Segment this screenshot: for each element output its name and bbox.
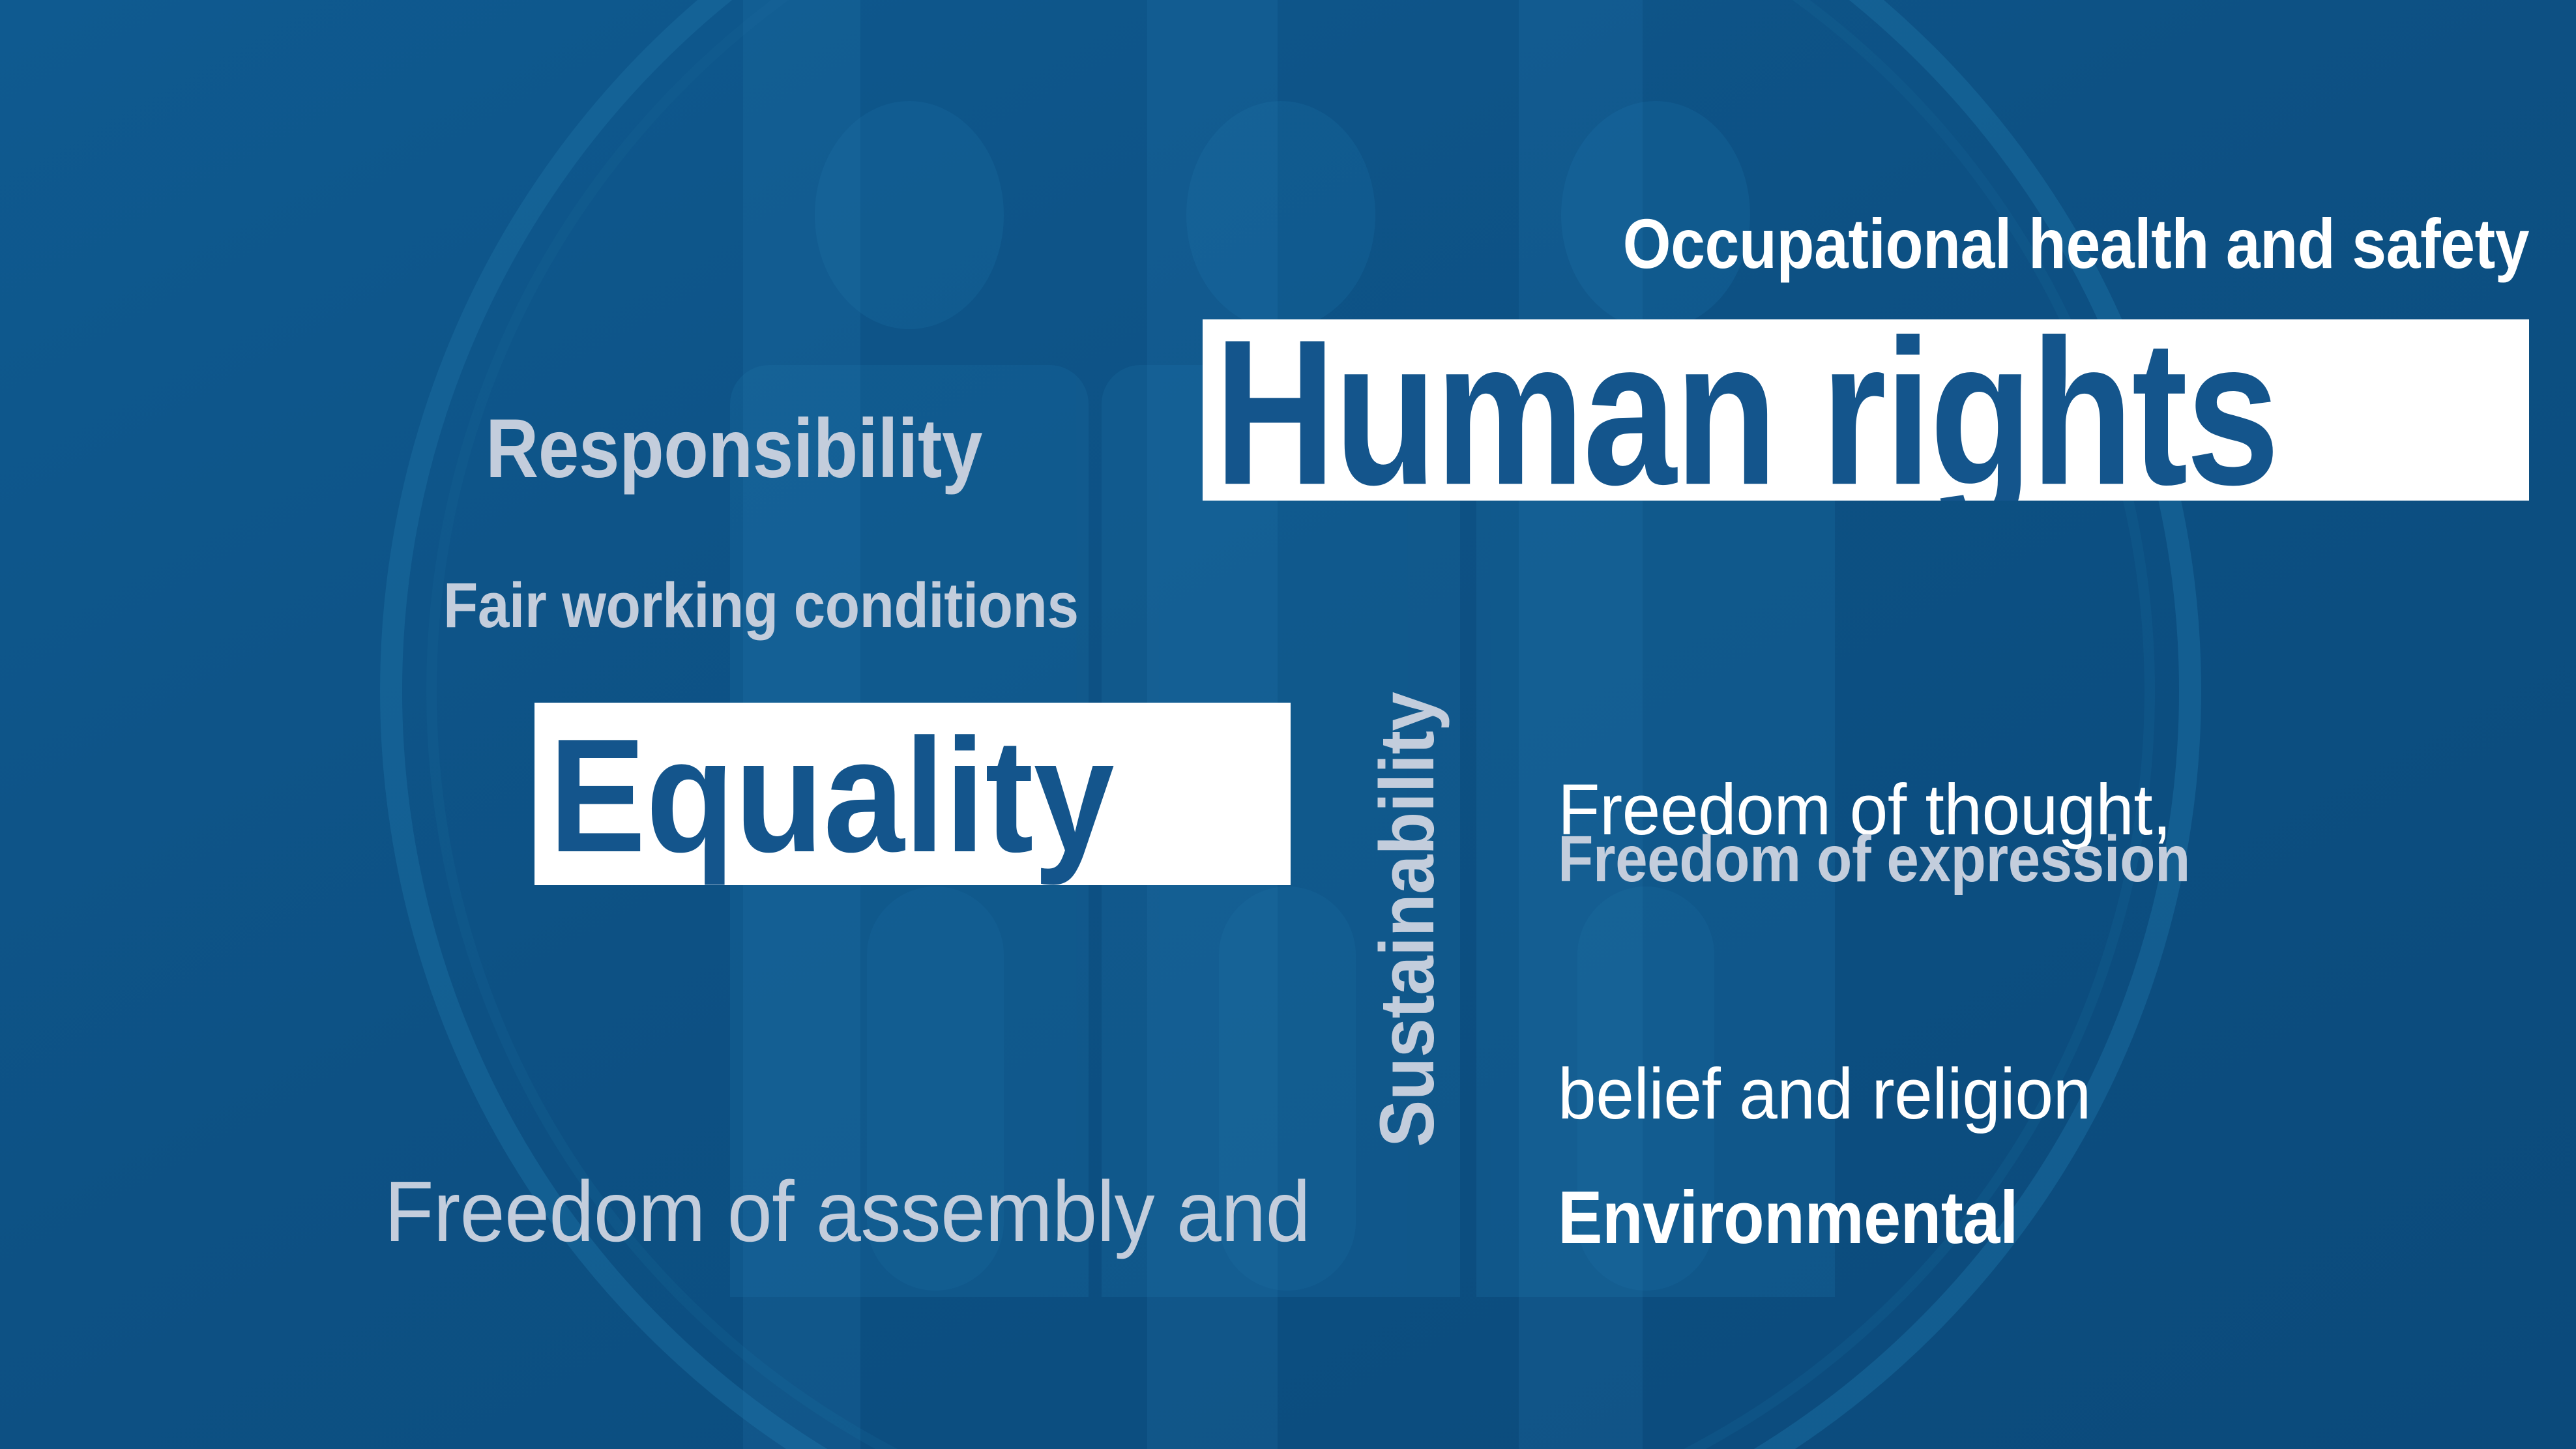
- word-occupational-health-and-safety: Occupational health and safety: [1622, 209, 2529, 279]
- word-freedom-of-assembly-line-1: Freedom of assembly and: [103, 1156, 1310, 1268]
- word-freedom-of-assembly-and-association: Freedom of assembly and association: [103, 932, 1310, 1449]
- word-cloud-slide: Occupational health and safety Human rig…: [0, 0, 2576, 1449]
- word-environmental-protection-line-1: Environmental: [1558, 1169, 2018, 1268]
- word-equality-label: Equality: [549, 714, 1115, 876]
- word-freedom-of-expression: Freedom of expression: [1558, 827, 2190, 892]
- word-fair-working-conditions: Fair working conditions: [443, 574, 1079, 637]
- word-human-rights-label: Human rights: [1214, 319, 2278, 501]
- word-human-rights-highlight-box: Human rights: [1203, 319, 2529, 501]
- word-equality-highlight-box: Equality: [534, 703, 1291, 885]
- word-sustainability-vertical: Sustainability: [1369, 692, 1446, 1147]
- word-responsibility: Responsibility: [486, 407, 982, 491]
- word-environmental-protection: Environmental protection: [1558, 971, 2018, 1449]
